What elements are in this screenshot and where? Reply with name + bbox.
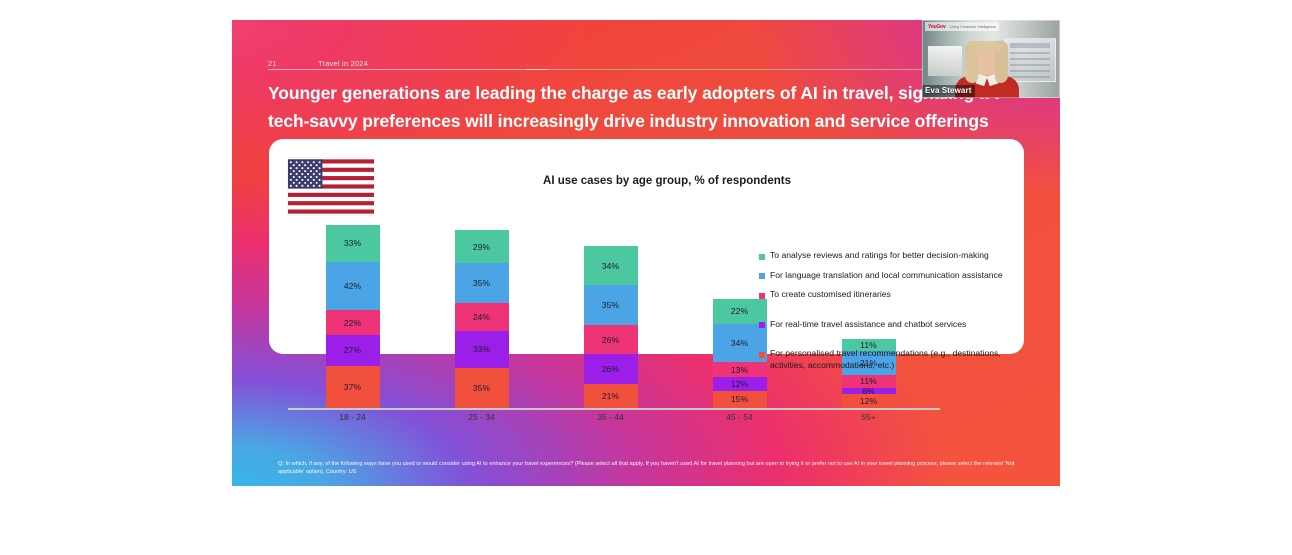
meta-divider-right [526,69,956,70]
bar-segment: 35% [584,285,638,325]
bar-segment: 34% [584,246,638,285]
slide-meta-row: 21 Travel in 2024 [268,52,1024,68]
slide-headline: Younger generations are leading the char… [268,79,1018,135]
x-axis-label: 35 - 44 [546,412,675,428]
yougov-logo-mark: YouGov [928,24,946,30]
bar-segment: 29% [455,230,509,263]
presenter-name-label: Eva Stewart [922,85,975,97]
chart-x-axis-labels: 18 - 2425 - 3435 - 4445 - 5455+ [288,412,940,428]
us-flag-icon [288,158,374,215]
presenter-video-tile[interactable]: YouGov Living Consumer Intelligence Eva … [922,20,1060,98]
bar-column: 34%35%26%26%21% [546,220,675,408]
x-axis-label: 45 - 54 [675,412,804,428]
legend-item[interactable]: For personalised travel recommendations … [759,348,1011,371]
legend-swatch-icon [759,254,765,260]
bar-segment: 33% [326,225,380,263]
bar-stack: 29%35%24%33%35% [455,230,509,408]
legend-label: For personalised travel recommendations … [770,348,1011,371]
legend-label: To create customised itineraries [770,289,891,301]
bar-segment: 37% [326,366,380,408]
legend-item[interactable]: For real-time travel assistance and chat… [759,319,1011,331]
slide-headline-line-2: tech-savvy preferences will increasingly… [268,107,1018,135]
chart-legend: To analyse reviews and ratings for bette… [759,250,1011,379]
bar-stack: 34%35%26%26%21% [584,246,638,408]
bar-column: 33%42%22%27%37% [288,220,417,408]
legend-item[interactable]: For language translation and local commu… [759,270,1011,282]
chart-title: AI use cases by age group, % of responde… [432,175,902,187]
slide-page-number: 21 [268,59,318,68]
bar-segment: 35% [455,263,509,303]
bar-segment: 42% [326,262,380,310]
x-axis-label: 18 - 24 [288,412,417,428]
slide-footnote: Q: In which, if any, of the following wa… [278,460,1026,476]
legend-label: To analyse reviews and ratings for bette… [770,250,989,262]
bar-segment: 12% [842,394,896,408]
yougov-logo-tagline: Living Consumer Intelligence [950,25,996,29]
deck-title: Travel in 2024 [318,59,1024,68]
bar-segment: 33% [455,331,509,369]
legend-item[interactable]: To analyse reviews and ratings for bette… [759,250,1011,262]
legend-label: For language translation and local commu… [770,270,1003,282]
bar-segment: 15% [713,391,767,408]
x-axis-label: 25 - 34 [417,412,546,428]
video-screen-rows [1010,52,1050,78]
slide-headline-line-1: Younger generations are leading the char… [268,79,1018,107]
bar-segment: 6% [842,388,896,395]
bar-segment: 27% [326,335,380,366]
bar-segment: 22% [326,310,380,335]
video-background-window [928,46,962,76]
bar-segment: 26% [584,325,638,355]
video-background-screen [1004,38,1056,82]
legend-swatch-icon [759,293,765,299]
legend-label: For real-time travel assistance and chat… [770,319,966,331]
bar-column: 29%35%24%33%35% [417,220,546,408]
meta-divider-left [268,69,548,70]
bar-segment: 35% [455,368,509,408]
chart-x-axis-line [288,408,940,410]
x-axis-label: 55+ [804,412,933,428]
legend-swatch-icon [759,352,765,358]
yougov-logo: YouGov Living Consumer Intelligence [925,22,999,31]
bar-stack: 33%42%22%27%37% [326,225,380,408]
bar-segment: 26% [584,354,638,384]
legend-swatch-icon [759,273,765,279]
legend-item[interactable]: To create customised itineraries [759,289,1011,301]
bar-segment: 12% [713,377,767,391]
video-screen-header [1010,43,1050,48]
bar-segment: 24% [455,303,509,330]
bar-segment: 21% [584,384,638,408]
presenter-fringe [972,41,1002,51]
presentation-slide: 21 Travel in 2024 Younger generations ar… [232,20,1060,486]
legend-swatch-icon [759,322,765,328]
